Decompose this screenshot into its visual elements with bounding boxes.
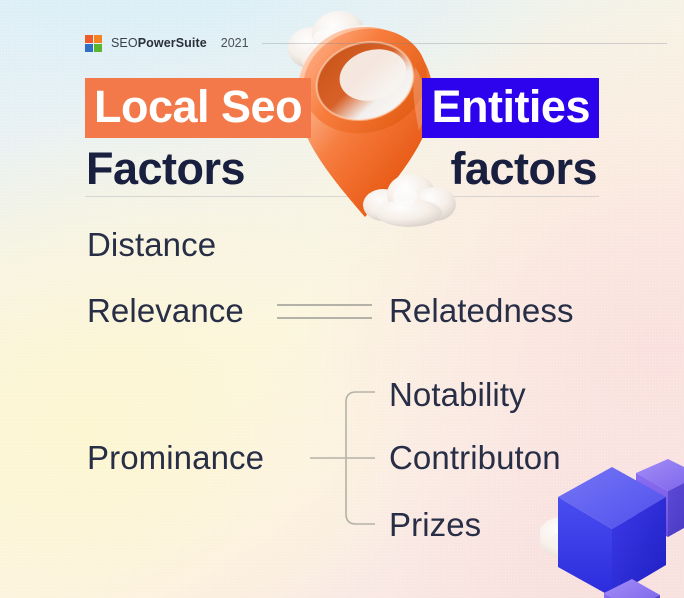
title-divider bbox=[85, 196, 599, 197]
title-column-left: Local Seo Factors bbox=[85, 78, 311, 191]
header-bar: SEOPowerSuite 2021 bbox=[85, 33, 667, 53]
node-notability: Notability bbox=[389, 378, 526, 411]
node-prizes: Prizes bbox=[389, 508, 481, 541]
title-right-subtitle: factors bbox=[422, 146, 599, 191]
connector-bracket bbox=[346, 392, 375, 524]
infographic-canvas: SEOPowerSuite 2021 Local Seo Factors Ent… bbox=[0, 0, 684, 598]
title-left-subtitle: Factors bbox=[85, 146, 311, 191]
node-prominance: Prominance bbox=[87, 441, 264, 474]
brand-label: SEOPowerSuite bbox=[111, 36, 207, 50]
title-right-highlight: Entities bbox=[422, 78, 599, 138]
node-relatedness: Relatedness bbox=[389, 294, 574, 327]
title-column-right: Entities factors bbox=[422, 78, 599, 191]
node-contributon: Contributon bbox=[389, 441, 561, 474]
title-block: Local Seo Factors Entities factors bbox=[85, 78, 599, 188]
header-year: 2021 bbox=[221, 36, 249, 50]
seo-powersuite-squares-icon bbox=[85, 35, 102, 52]
node-distance: Distance bbox=[87, 228, 216, 261]
header-divider bbox=[262, 43, 667, 44]
brand-name: PowerSuite bbox=[138, 36, 207, 50]
title-left-highlight: Local Seo bbox=[85, 78, 311, 138]
node-relevance: Relevance bbox=[87, 294, 244, 327]
brand-prefix: SEO bbox=[111, 36, 138, 50]
